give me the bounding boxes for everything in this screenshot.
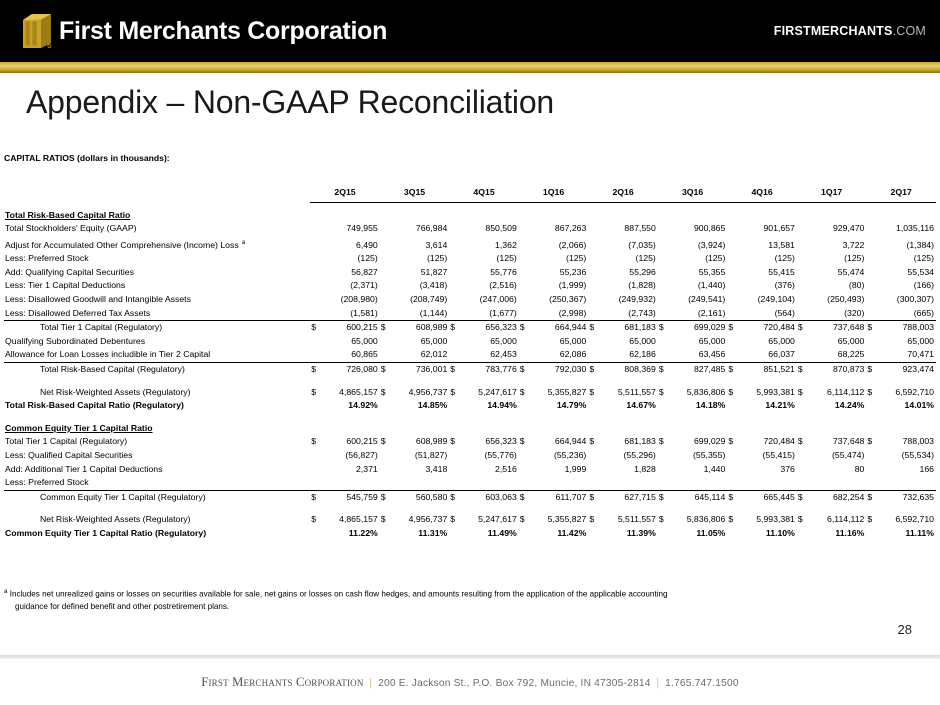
table-row: Adjust for Accumulated Other Comprehensi… [4,236,936,252]
currency-cell: $ [658,490,669,504]
value-cell: 656,323 [460,435,518,449]
currency-cell [658,527,669,541]
first-merchants-cube-logo-icon [22,13,52,49]
value-cell: 5,247,617 [460,386,518,400]
currency-cell [519,476,530,490]
url-tld: .COM [893,24,926,38]
currency-cell [380,449,391,463]
row-label: Common Equity Tier 1 Capital Ratio (Regu… [4,527,310,541]
value-cell: (2,998) [530,307,588,321]
currency-cell [797,527,808,541]
value-cell: (55,776) [460,449,518,463]
currency-cell [588,399,599,413]
currency-cell [797,463,808,477]
footer-contact-line: First Merchants Corporation|200 E. Jacks… [201,675,738,690]
value-cell: 766,984 [391,222,449,236]
currency-cell: $ [658,321,669,335]
currency-cell [588,335,599,349]
value-cell: (250,493) [808,293,866,307]
value-cell: (376) [738,279,796,293]
currency-cell [658,348,669,362]
currency-cell: $ [727,490,738,504]
value-cell: (564) [738,307,796,321]
value-cell: 55,474 [808,266,866,280]
value-cell: 11.10% [738,527,796,541]
currency-cell [797,449,808,463]
row-label: Total Risk-Based Capital Ratio (Regulato… [4,399,310,413]
value-cell: 3,418 [391,463,449,477]
value-cell: (55,296) [599,449,657,463]
currency-cell [588,449,599,463]
currency-cell: $ [727,363,738,377]
table-row: Allowance for Loan Losses includible in … [4,348,936,362]
currency-cell [449,307,460,321]
currency-cell [380,293,391,307]
currency-cell [727,252,738,266]
currency-cell [727,348,738,362]
value-cell: 166 [877,463,936,477]
currency-cell [310,279,321,293]
value-cell: 749,955 [321,222,379,236]
currency-cell: $ [380,321,391,335]
value-cell: 4,956,737 [391,513,449,527]
row-label: Common Equity Tier 1 Capital (Regulatory… [4,490,310,504]
currency-cell: $ [727,513,738,527]
table-row: Add: Qualifying Capital Securities 56,82… [4,266,936,280]
currency-cell [449,266,460,280]
value-cell: 60,865 [321,348,379,362]
currency-cell [310,252,321,266]
value-cell: 737,648 [808,321,866,335]
spacer-row [4,413,936,422]
currency-cell: $ [797,363,808,377]
currency-cell [658,463,669,477]
value-cell: (208,749) [391,293,449,307]
value-cell: 6,490 [321,236,379,252]
value-cell: (250,367) [530,293,588,307]
header-spacer [4,186,310,202]
value-cell: 51,827 [391,266,449,280]
value-cell: (125) [599,252,657,266]
column-header-1q16: 1Q16 [519,186,589,202]
value-cell: 6,114,112 [808,386,866,400]
value-cell: 827,485 [669,363,727,377]
value-cell: 664,944 [530,321,588,335]
value-cell: 65,000 [530,335,588,349]
currency-cell [519,399,530,413]
footnote-marker: a [4,588,7,595]
currency-cell [380,527,391,541]
currency-cell [588,266,599,280]
currency-cell [588,307,599,321]
currency-cell [519,307,530,321]
value-cell [808,476,866,490]
value-cell: 545,759 [321,490,379,504]
currency-cell [727,266,738,280]
value-cell [599,476,657,490]
currency-cell [866,348,877,362]
currency-cell: $ [310,386,321,400]
page-footer: First Merchants Corporation|200 E. Jacks… [0,659,940,705]
ratio-row-common-equity-tier-1-capital-ratio: Common Equity Tier 1 Capital Ratio (Regu… [4,527,936,541]
currency-cell [866,335,877,349]
currency-cell [658,236,669,252]
currency-cell [449,293,460,307]
value-cell: 560,580 [391,490,449,504]
currency-cell: $ [519,490,530,504]
value-cell: 65,000 [808,335,866,349]
value-cell: (80) [808,279,866,293]
currency-cell: $ [449,490,460,504]
currency-cell: $ [727,435,738,449]
row-label: Total Tier 1 Capital (Regulatory) [4,435,310,449]
row-label: Less: Preferred Stock [4,476,310,490]
value-cell: 62,186 [599,348,657,362]
currency-cell [588,222,599,236]
value-cell: 14.01% [877,399,936,413]
footnote-marker: a [239,239,246,246]
capital-ratios-caption: CAPITAL RATIOS (dollars in thousands): [4,153,170,163]
row-label: Add: Additional Tier 1 Capital Deduction… [4,463,310,477]
currency-cell [380,236,391,252]
currency-cell [519,266,530,280]
value-cell: 850,509 [460,222,518,236]
currency-cell [797,335,808,349]
value-cell: 65,000 [460,335,518,349]
currency-cell: $ [380,386,391,400]
row-label: Net Risk-Weighted Assets (Regulatory) [4,386,310,400]
currency-cell: $ [310,513,321,527]
table-row: Less: Qualified Capital Securities (56,8… [4,449,936,463]
value-cell: 11.31% [391,527,449,541]
currency-cell [588,293,599,307]
value-cell: 55,236 [530,266,588,280]
value-cell: 808,369 [599,363,657,377]
currency-cell: $ [588,513,599,527]
value-cell: 14.24% [808,399,866,413]
currency-cell [380,252,391,266]
currency-cell [866,463,877,477]
footer-phone: 1.765.747.1500 [665,678,739,689]
row-label: Allowance for Loan Losses includible in … [4,348,310,362]
currency-cell [588,279,599,293]
currency-cell [310,463,321,477]
currency-cell: $ [797,386,808,400]
value-cell: 627,715 [599,490,657,504]
currency-cell [866,236,877,252]
currency-cell [380,476,391,490]
currency-cell [588,252,599,266]
value-cell: 1,999 [530,463,588,477]
column-header-4q15: 4Q15 [449,186,519,202]
currency-cell [310,399,321,413]
currency-cell: $ [519,386,530,400]
currency-cell [449,222,460,236]
currency-cell [449,252,460,266]
currency-cell [519,527,530,541]
currency-cell: $ [310,363,321,377]
value-cell: 5,993,381 [738,386,796,400]
value-cell: 14.94% [460,399,518,413]
value-cell: 5,836,806 [669,513,727,527]
footer-address: 200 E. Jackson St., P.O. Box 792, Muncie… [378,678,650,689]
currency-cell [519,463,530,477]
value-cell: 14.92% [321,399,379,413]
table-header: 2Q15 3Q15 4Q15 1Q16 2Q16 3Q16 4Q16 1Q17 … [4,186,936,202]
value-cell: 63,456 [669,348,727,362]
header-website-url: FIRSTMERCHANTS.COM [774,24,926,38]
value-cell: 5,355,827 [530,386,588,400]
value-cell: (55,534) [877,449,936,463]
value-cell: (125) [669,252,727,266]
currency-cell: $ [380,513,391,527]
value-cell: (166) [877,279,936,293]
currency-cell [658,266,669,280]
value-cell [877,476,936,490]
value-cell: (56,827) [321,449,379,463]
currency-cell: $ [519,435,530,449]
currency-cell [727,236,738,252]
currency-cell [519,279,530,293]
currency-cell [727,527,738,541]
value-cell: 929,470 [808,222,866,236]
currency-cell [658,293,669,307]
value-cell: 65,000 [599,335,657,349]
row-label: Less: Disallowed Goodwill and Intangible… [4,293,310,307]
capital-ratios-table: 2Q15 3Q15 4Q15 1Q16 2Q16 3Q16 4Q16 1Q17 … [4,186,936,541]
currency-cell: $ [380,435,391,449]
value-cell: 65,000 [877,335,936,349]
currency-cell: $ [310,490,321,504]
value-cell: (1,828) [599,279,657,293]
currency-cell [310,307,321,321]
value-cell: 608,989 [391,435,449,449]
currency-cell: $ [449,386,460,400]
currency-cell: $ [866,435,877,449]
value-cell: 603,063 [460,490,518,504]
currency-cell [519,222,530,236]
currency-cell [866,449,877,463]
currency-cell [310,266,321,280]
currency-cell [449,463,460,477]
value-cell: 5,993,381 [738,513,796,527]
value-cell: 608,989 [391,321,449,335]
currency-cell: $ [449,513,460,527]
value-cell: (1,677) [460,307,518,321]
value-cell: (125) [391,252,449,266]
currency-cell [797,399,808,413]
value-cell: 736,001 [391,363,449,377]
currency-cell: $ [658,386,669,400]
table-row: Qualifying Subordinated Debentures 65,00… [4,335,936,349]
footer-company-name: First Merchants Corporation [201,675,363,689]
value-cell: 14.85% [391,399,449,413]
value-cell: 699,029 [669,321,727,335]
currency-cell: $ [797,435,808,449]
currency-cell: $ [588,363,599,377]
spacer-row [4,377,936,386]
value-cell: 5,511,557 [599,513,657,527]
value-cell: 681,183 [599,435,657,449]
row-label: Total Stockholders' Equity (GAAP) [4,222,310,236]
value-cell: 4,956,737 [391,386,449,400]
gold-accent-bar [0,62,940,73]
currency-cell [797,236,808,252]
value-cell: (249,932) [599,293,657,307]
currency-cell [797,307,808,321]
value-cell: 645,114 [669,490,727,504]
value-cell: 56,827 [321,266,379,280]
currency-cell [797,252,808,266]
column-header-1q17: 1Q17 [797,186,867,202]
currency-cell [449,348,460,362]
currency-cell [797,222,808,236]
value-cell: 611,707 [530,490,588,504]
currency-cell [866,279,877,293]
footer-separator: | [364,676,379,689]
currency-cell [519,449,530,463]
currency-cell [588,476,599,490]
value-cell: 664,944 [530,435,588,449]
value-cell [669,476,727,490]
currency-cell [658,449,669,463]
currency-cell [866,266,877,280]
table-body: Total Risk-Based Capital Ratio Total Sto… [4,202,936,540]
value-cell: 5,836,806 [669,386,727,400]
currency-cell [310,476,321,490]
subtotal-row-total-risk-based-capital: Total Risk-Based Capital (Regulatory) $7… [4,363,936,377]
currency-cell [658,335,669,349]
currency-cell: $ [380,490,391,504]
value-cell: 867,263 [530,222,588,236]
currency-cell: $ [866,386,877,400]
currency-cell: $ [519,363,530,377]
currency-cell [449,335,460,349]
value-cell: 14.21% [738,399,796,413]
currency-cell: $ [380,363,391,377]
currency-cell: $ [588,435,599,449]
currency-cell [658,307,669,321]
currency-cell [380,279,391,293]
currency-cell [797,279,808,293]
currency-cell [310,222,321,236]
currency-cell [519,293,530,307]
currency-cell [380,307,391,321]
subtotal-row-common-equity-tier-1-capital: Common Equity Tier 1 Capital (Regulatory… [4,490,936,504]
value-cell: 900,865 [669,222,727,236]
value-cell: (125) [738,252,796,266]
currency-cell [727,279,738,293]
value-cell: 65,000 [738,335,796,349]
currency-cell [310,293,321,307]
value-cell: 720,484 [738,321,796,335]
currency-cell: $ [519,321,530,335]
value-cell [738,476,796,490]
value-cell: 3,722 [808,236,866,252]
value-cell: 887,550 [599,222,657,236]
value-cell: (247,006) [460,293,518,307]
value-cell: 901,657 [738,222,796,236]
value-cell: 2,371 [321,463,379,477]
currency-cell: $ [797,513,808,527]
value-cell: 737,648 [808,435,866,449]
currency-cell: $ [588,490,599,504]
currency-cell [727,222,738,236]
currency-cell [658,222,669,236]
currency-cell [310,335,321,349]
currency-cell [797,266,808,280]
value-cell: 6,592,710 [877,513,936,527]
row-label: Adjust for Accumulated Other Comprehensi… [4,236,310,252]
value-cell: 66,037 [738,348,796,362]
currency-cell: $ [449,363,460,377]
value-cell: 600,215 [321,321,379,335]
value-cell: 55,776 [460,266,518,280]
currency-cell [310,449,321,463]
currency-cell [866,222,877,236]
value-cell: (3,418) [391,279,449,293]
value-cell: 788,003 [877,435,936,449]
value-cell: 65,000 [321,335,379,349]
row-label-text: Adjust for Accumulated Other Comprehensi… [5,240,239,250]
value-cell: 11.11% [877,527,936,541]
currency-cell [449,236,460,252]
currency-cell: $ [866,363,877,377]
row-label: Less: Tier 1 Capital Deductions [4,279,310,293]
value-cell: (3,924) [669,236,727,252]
value-cell: 376 [738,463,796,477]
value-cell: 14.79% [530,399,588,413]
value-cell: (55,474) [808,449,866,463]
value-cell: (125) [530,252,588,266]
value-cell: 720,484 [738,435,796,449]
value-cell: 11.39% [599,527,657,541]
currency-cell: $ [310,435,321,449]
currency-cell [519,348,530,362]
value-cell: 682,254 [808,490,866,504]
value-cell: 732,635 [877,490,936,504]
value-cell: (55,355) [669,449,727,463]
currency-cell [519,335,530,349]
currency-cell [588,236,599,252]
value-cell: 55,415 [738,266,796,280]
currency-cell: $ [310,321,321,335]
value-cell: 14.67% [599,399,657,413]
currency-cell [727,335,738,349]
table-row: Less: Disallowed Goodwill and Intangible… [4,293,936,307]
row-label: Less: Preferred Stock [4,252,310,266]
currency-cell: $ [449,321,460,335]
currency-cell [519,236,530,252]
table-row-net-risk-weighted-assets: Net Risk-Weighted Assets (Regulatory) $4… [4,386,936,400]
currency-cell [658,252,669,266]
row-label: Less: Disallowed Deferred Tax Assets [4,307,310,321]
footer-separator: | [651,676,666,689]
table-row-net-risk-weighted-assets: Net Risk-Weighted Assets (Regulatory) $4… [4,513,936,527]
value-cell: (1,581) [321,307,379,321]
value-cell: (2,371) [321,279,379,293]
currency-cell [797,348,808,362]
value-cell: (1,384) [877,236,936,252]
column-header-2q15: 2Q15 [310,186,380,202]
footnote-line-1: Includes net unrealized gains or losses … [10,590,668,599]
currency-cell [310,236,321,252]
currency-cell [727,399,738,413]
value-cell: 681,183 [599,321,657,335]
value-cell: (249,104) [738,293,796,307]
value-cell: (1,440) [669,279,727,293]
currency-cell: $ [658,435,669,449]
